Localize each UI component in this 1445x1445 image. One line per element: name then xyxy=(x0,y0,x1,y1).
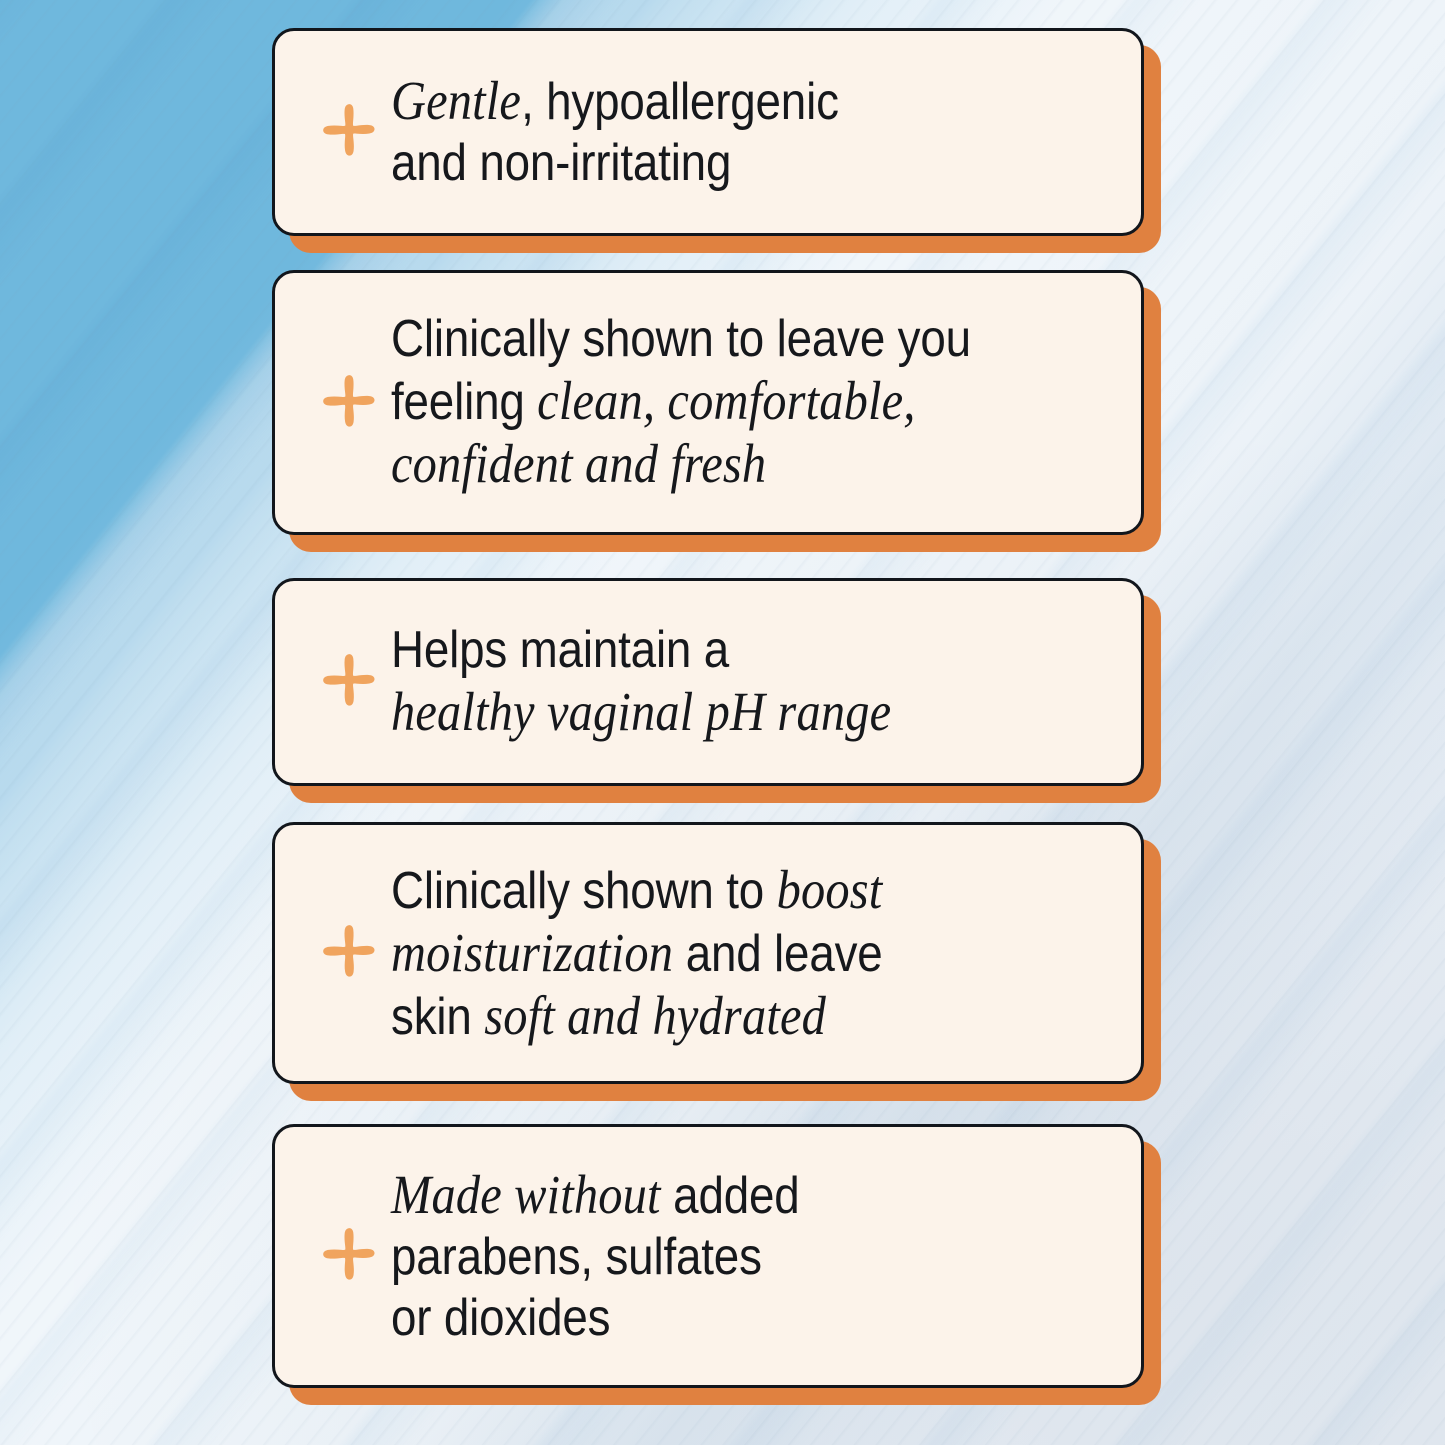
emphasis-text: moisturization xyxy=(391,922,673,983)
benefit-card-body: Helps maintain ahealthy vaginal pH range xyxy=(272,578,1144,786)
promo-graphic: Gentle, hypoallergenicand non-irritating… xyxy=(0,0,1445,1445)
plus-icon xyxy=(315,1223,381,1289)
benefit-text: Made without addedparabens, sulfatesor d… xyxy=(391,1164,1032,1349)
plain-text: , hypoallergenic xyxy=(521,73,839,131)
benefit-text: Helps maintain ahealthy vaginal pH range xyxy=(391,620,1032,744)
benefit-text-line: Gentle, hypoallergenic xyxy=(391,70,1032,133)
plain-text: skin xyxy=(391,988,484,1046)
emphasis-text: clean, comfortable, xyxy=(537,370,915,431)
plain-text: Helps maintain a xyxy=(391,621,729,679)
plain-text: and non-irritating xyxy=(391,134,731,192)
benefit-text-line: confident and fresh xyxy=(391,433,1032,496)
benefit-text-line: Clinically shown to leave you xyxy=(391,309,1032,370)
benefit-card-made-without-added: Made without addedparabens, sulfatesor d… xyxy=(272,1124,1144,1388)
benefit-card-body: Made without addedparabens, sulfatesor d… xyxy=(272,1124,1144,1388)
benefit-text-line: Made without added xyxy=(391,1164,1032,1227)
benefit-text-line: moisturization and leave xyxy=(391,922,1032,985)
emphasis-text: Gentle xyxy=(391,70,521,131)
benefits-list: Gentle, hypoallergenicand non-irritating… xyxy=(272,0,1162,1445)
benefit-text-line: Helps maintain a xyxy=(391,620,1032,681)
plain-text: added xyxy=(661,1167,800,1225)
benefit-card-body: Gentle, hypoallergenicand non-irritating xyxy=(272,28,1144,236)
emphasis-text: boost xyxy=(777,859,883,920)
benefit-text-line: healthy vaginal pH range xyxy=(391,681,1032,744)
benefit-text-line: parabens, sulfates xyxy=(391,1227,1032,1288)
benefit-text-line: or dioxides xyxy=(391,1288,1032,1349)
benefit-text-line: feeling clean, comfortable, xyxy=(391,370,1032,433)
plus-icon xyxy=(315,99,381,165)
plain-text: parabens, sulfates xyxy=(391,1228,762,1286)
plus-icon xyxy=(315,370,381,436)
benefit-card-clinically-shown-clean-comfortable: Clinically shown to leave youfeeling cle… xyxy=(272,270,1144,535)
plain-text: Clinically shown to leave you xyxy=(391,310,971,368)
benefit-text: Clinically shown to boostmoisturization … xyxy=(391,859,1032,1048)
plain-text: or dioxides xyxy=(391,1289,610,1347)
benefit-text: Gentle, hypoallergenicand non-irritating xyxy=(391,70,1032,194)
plain-text: feeling xyxy=(391,373,537,431)
benefit-card-body: Clinically shown to leave youfeeling cle… xyxy=(272,270,1144,535)
benefit-text-line: Clinically shown to boost xyxy=(391,859,1032,922)
benefit-text-line: and non-irritating xyxy=(391,133,1032,194)
plain-text: and leave xyxy=(673,925,882,983)
plain-text: Clinically shown to xyxy=(391,862,777,920)
emphasis-text: healthy vaginal pH range xyxy=(391,681,891,742)
emphasis-text: confident and fresh xyxy=(391,433,766,494)
benefit-card-gentle-hypoallergenic: Gentle, hypoallergenicand non-irritating xyxy=(272,28,1144,236)
plus-icon xyxy=(315,920,381,986)
emphasis-text: Made without xyxy=(391,1164,661,1225)
benefit-text-line: skin soft and hydrated xyxy=(391,985,1032,1048)
plus-icon xyxy=(315,649,381,715)
benefit-text: Clinically shown to leave youfeeling cle… xyxy=(391,309,1032,496)
benefit-card-boost-moisturization: Clinically shown to boostmoisturization … xyxy=(272,822,1144,1084)
benefit-card-healthy-vaginal-ph: Helps maintain ahealthy vaginal pH range xyxy=(272,578,1144,786)
benefit-card-body: Clinically shown to boostmoisturization … xyxy=(272,822,1144,1084)
emphasis-text: soft and hydrated xyxy=(484,985,826,1046)
